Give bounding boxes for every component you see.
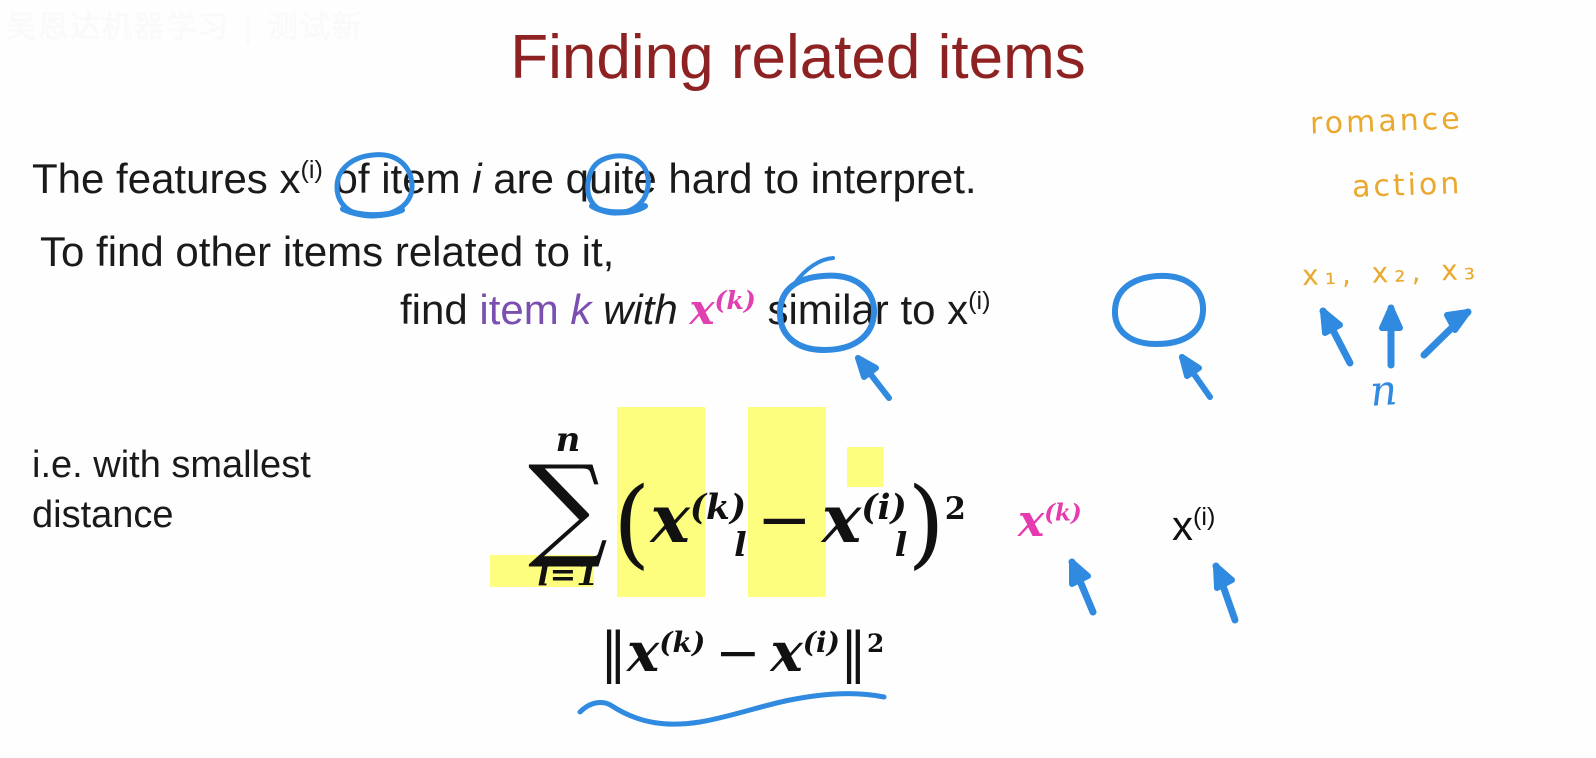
annotation-action: action — [1351, 166, 1462, 205]
line1-middle: of item — [323, 155, 472, 202]
line3-xk: x(k) — [689, 285, 755, 334]
arrow-to-x-k — [858, 358, 889, 398]
norm-minus: − — [715, 621, 760, 684]
sigma-symbol: ∑ — [513, 455, 623, 559]
norm-exponent: 2 — [867, 629, 884, 658]
line3-xi-superscript: (i) — [968, 287, 990, 315]
line3-similar: similar to — [756, 286, 947, 333]
arrowhead-x2 — [1382, 308, 1400, 328]
slide-canvas: 吴恩达机器学习 | 测试新 Finding related items The … — [0, 0, 1596, 758]
page-title: Finding related items — [0, 22, 1596, 93]
label-x-k: x(k) — [1018, 496, 1082, 547]
underline-item-i-line1 — [592, 206, 645, 212]
line3-k: k — [570, 286, 591, 333]
squared-difference-expression: (x(k)l−x(i)l)2 — [613, 467, 966, 579]
line1-suffix: are quite hard to interpret. — [482, 155, 977, 202]
line3-item-word: item — [479, 286, 558, 333]
norm-xk-superscript: (k) — [659, 626, 705, 659]
formula-xi-subscript: l — [895, 525, 908, 564]
line3-xk-base: x — [689, 285, 714, 334]
body-line-3: find item k with x(k) similar to x(i) — [400, 285, 991, 334]
underbrace-norm — [580, 694, 884, 725]
line1-x-superscript: (i) — [300, 156, 322, 184]
label-x-k-base: x — [1018, 496, 1044, 547]
arrow-to-label-x-i — [1216, 566, 1235, 620]
formula-xk-superscript: (k) — [690, 488, 746, 528]
norm-xi-base: x — [770, 620, 802, 684]
norm-formula: ‖x(k)−x(i)‖2 — [600, 620, 884, 684]
annotation-n-label: n — [1368, 365, 1398, 416]
circle-x-i-line3 — [1115, 276, 1203, 344]
close-paren: ) — [907, 467, 944, 579]
arrow-to-x3 — [1424, 312, 1468, 355]
arrow-to-label-x-k — [1072, 562, 1093, 612]
body-line-1: The features x(i) of item i are quite ha… — [32, 155, 977, 203]
line3-xi: x(i) — [947, 286, 990, 333]
ink-squiggle-line2 — [795, 258, 833, 283]
arrowhead-x-k — [858, 358, 876, 377]
line3-xi-base: x — [947, 286, 968, 333]
norm-open-bars: ‖ — [600, 621, 627, 684]
norm-close-bars: ‖ — [840, 621, 867, 684]
line3-space — [559, 286, 571, 333]
arrow-to-x1 — [1323, 311, 1350, 363]
formula-xk-base: x — [650, 480, 689, 558]
line3-xk-superscript: (k) — [715, 285, 756, 315]
arrowhead-x3 — [1447, 312, 1468, 330]
smallest-distance-note: i.e. with smallest distance — [32, 440, 432, 540]
formula-exponent: 2 — [945, 491, 966, 527]
label-x-k-superscript: (k) — [1044, 500, 1082, 526]
label-x-i: x(i) — [1172, 502, 1215, 550]
line3-find: find — [400, 286, 479, 333]
arrowhead-label-x-i — [1216, 566, 1232, 588]
formula-xi-superscript: (i) — [861, 488, 907, 528]
open-paren: ( — [613, 467, 650, 579]
line1-prefix: The features — [32, 155, 279, 202]
norm-xi-superscript: (i) — [803, 626, 840, 659]
arrowhead-x1 — [1323, 311, 1340, 333]
label-x-i-superscript: (i) — [1193, 503, 1215, 531]
line1-item-index: i — [472, 155, 481, 202]
annotation-feature-list: x₁, x₂, x₃ — [1301, 253, 1481, 292]
arrowhead-x-i — [1182, 357, 1199, 376]
sigma-stack: n ∑ l=1 — [513, 425, 623, 589]
norm-xk-base: x — [627, 620, 659, 684]
line1-x-base: x — [279, 155, 300, 202]
line1-x-i: x(i) — [279, 155, 322, 202]
line3-with: with — [591, 286, 689, 333]
underline-x-i-line1 — [343, 209, 402, 215]
label-x-i-base: x — [1172, 502, 1193, 549]
formula-minus: − — [757, 481, 812, 558]
annotation-romance: romance — [1309, 101, 1463, 141]
formula-xi-base: x — [822, 480, 861, 558]
arrowhead-label-x-k — [1072, 562, 1088, 584]
arrow-to-x-i — [1182, 357, 1210, 397]
body-line-2: To find other items related to it, — [40, 228, 614, 276]
formula-xk-subscript: l — [734, 525, 747, 564]
